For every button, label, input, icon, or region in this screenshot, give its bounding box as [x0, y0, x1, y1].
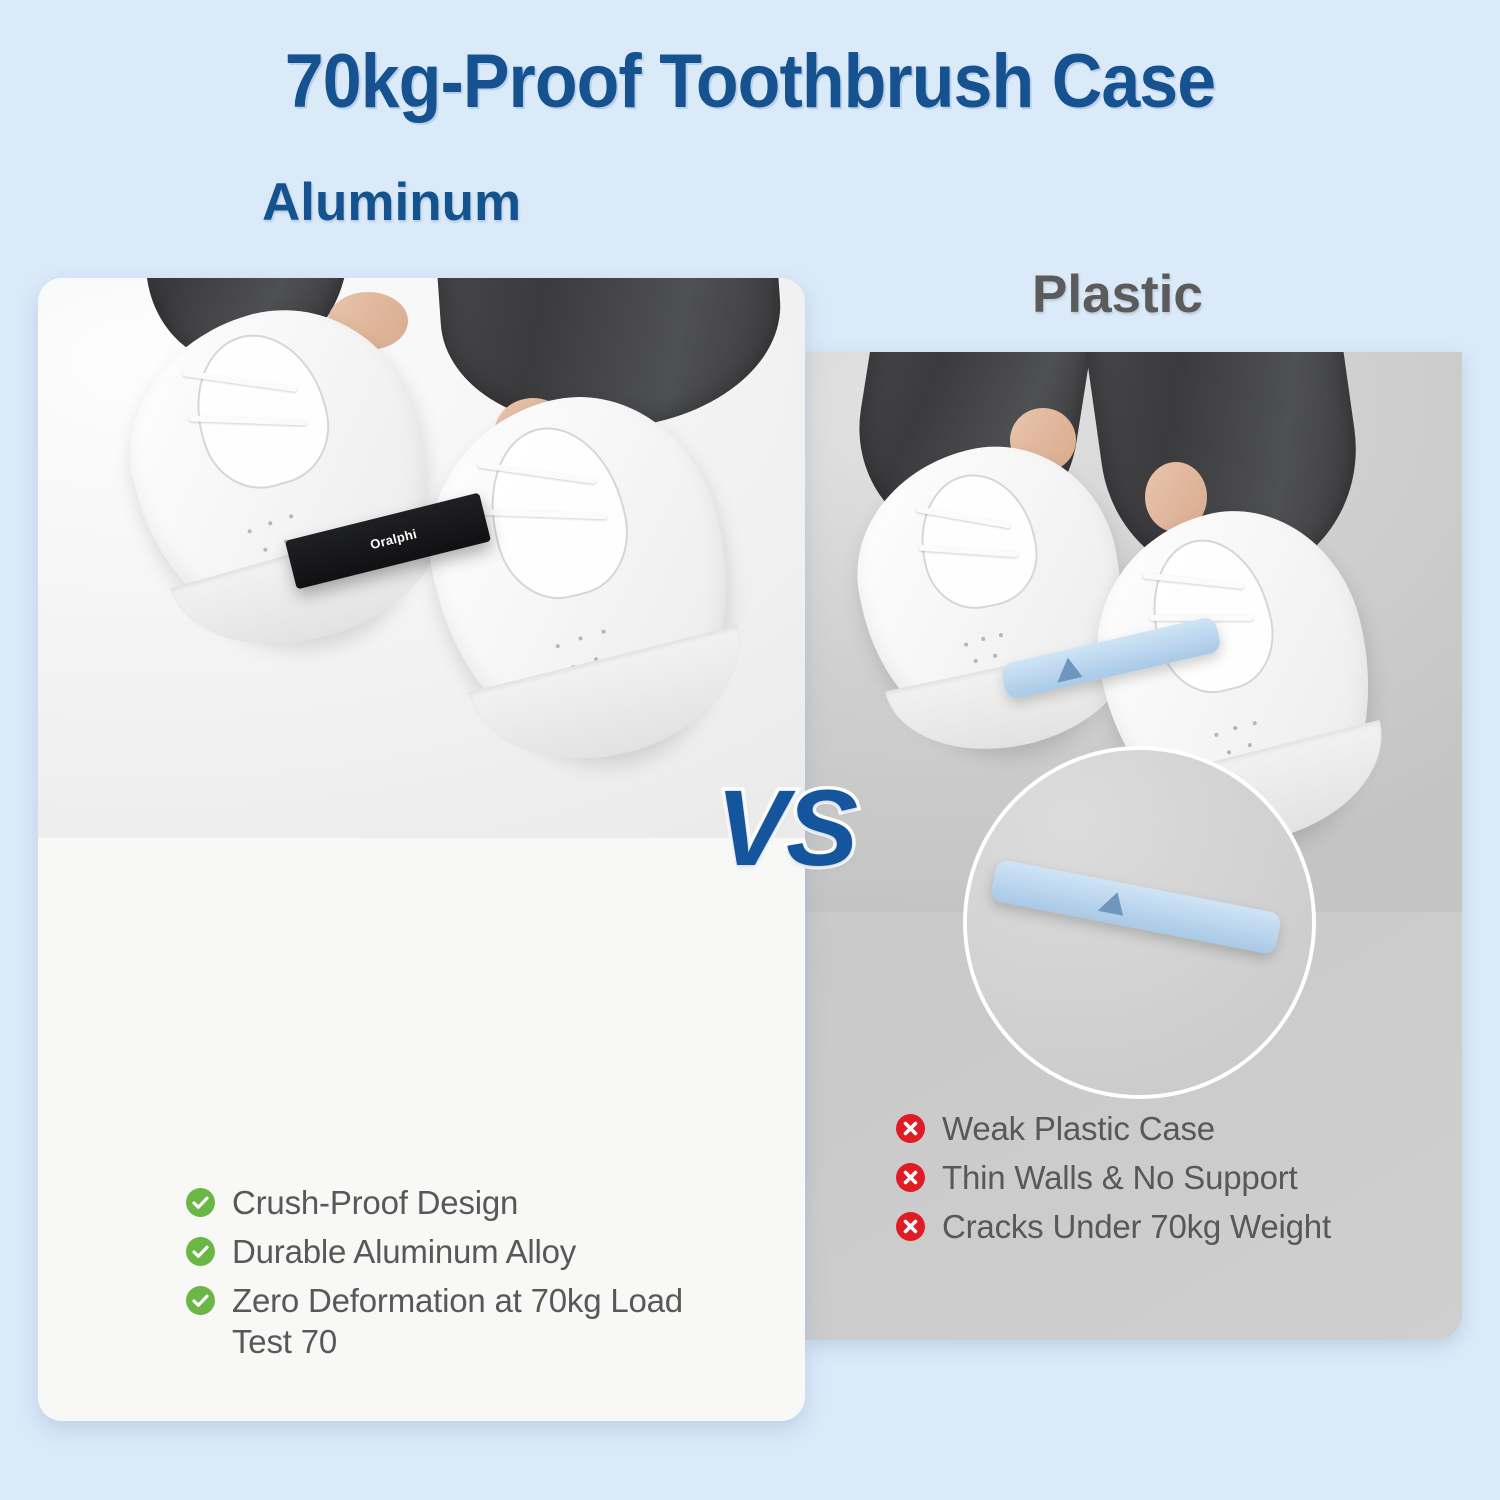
- perforation: [1227, 750, 1232, 755]
- sneaker-right: [399, 368, 767, 787]
- perforation: [993, 653, 998, 658]
- plastic-section-label: Plastic: [1032, 264, 1203, 325]
- list-item: Zero Deformation at 70kg Load Test 70: [186, 1280, 706, 1362]
- lace-panel: [178, 319, 343, 502]
- check-circle-icon: [186, 1237, 215, 1266]
- perforation: [1233, 726, 1238, 731]
- feature-label: Crush-Proof Design: [232, 1182, 518, 1223]
- shoe-sole: [468, 625, 762, 787]
- perforation: [263, 547, 268, 552]
- perforation: [981, 637, 986, 642]
- check-circle-icon: [186, 1286, 215, 1315]
- perforation: [601, 629, 606, 634]
- x-circle-icon: [896, 1212, 925, 1241]
- perforation: [268, 521, 273, 526]
- list-item: Cracks Under 70kg Weight: [896, 1206, 1416, 1247]
- perforation: [247, 529, 252, 534]
- perforation: [964, 642, 969, 647]
- plastic-case-closeup: [990, 859, 1283, 956]
- feature-label: Thin Walls & No Support: [942, 1157, 1297, 1198]
- x-circle-icon: [896, 1163, 925, 1192]
- perforation: [1214, 732, 1219, 737]
- plastic-feature-list: Weak Plastic Case Thin Walls & No Suppor…: [896, 1108, 1416, 1255]
- list-item: Thin Walls & No Support: [896, 1157, 1416, 1198]
- perforation: [578, 636, 583, 641]
- aluminum-feature-list: Crush-Proof Design Durable Aluminum Allo…: [186, 1182, 706, 1370]
- perforation: [289, 514, 294, 519]
- perforation: [973, 659, 978, 664]
- crack-damage: [1052, 655, 1082, 682]
- list-item: Weak Plastic Case: [896, 1108, 1416, 1149]
- perforation: [555, 644, 560, 649]
- aluminum-section-label: Aluminum: [262, 172, 521, 233]
- feature-label: Durable Aluminum Alloy: [232, 1231, 576, 1272]
- crack-damage: [1098, 889, 1128, 916]
- list-item: Durable Aluminum Alloy: [186, 1231, 706, 1272]
- x-circle-icon: [896, 1114, 925, 1143]
- plastic-case-closeup-inset: [967, 750, 1312, 1095]
- aluminum-photo: Oralphi: [38, 278, 805, 838]
- vs-badge: VS: [716, 765, 856, 890]
- check-circle-icon: [186, 1188, 215, 1217]
- page-title: 70kg-Proof Toothbrush Case: [60, 38, 1440, 125]
- perforation: [999, 633, 1004, 638]
- feature-label: Cracks Under 70kg Weight: [942, 1206, 1331, 1247]
- perforation: [1247, 743, 1252, 748]
- feature-label: Weak Plastic Case: [942, 1108, 1215, 1149]
- feature-label: Zero Deformation at 70kg Load Test 70: [232, 1280, 706, 1362]
- perforation: [1252, 721, 1257, 726]
- brand-logo-text: Oralphi: [369, 526, 419, 552]
- sneaker-left: [98, 278, 468, 675]
- list-item: Crush-Proof Design: [186, 1182, 706, 1223]
- lace-panel: [908, 464, 1047, 619]
